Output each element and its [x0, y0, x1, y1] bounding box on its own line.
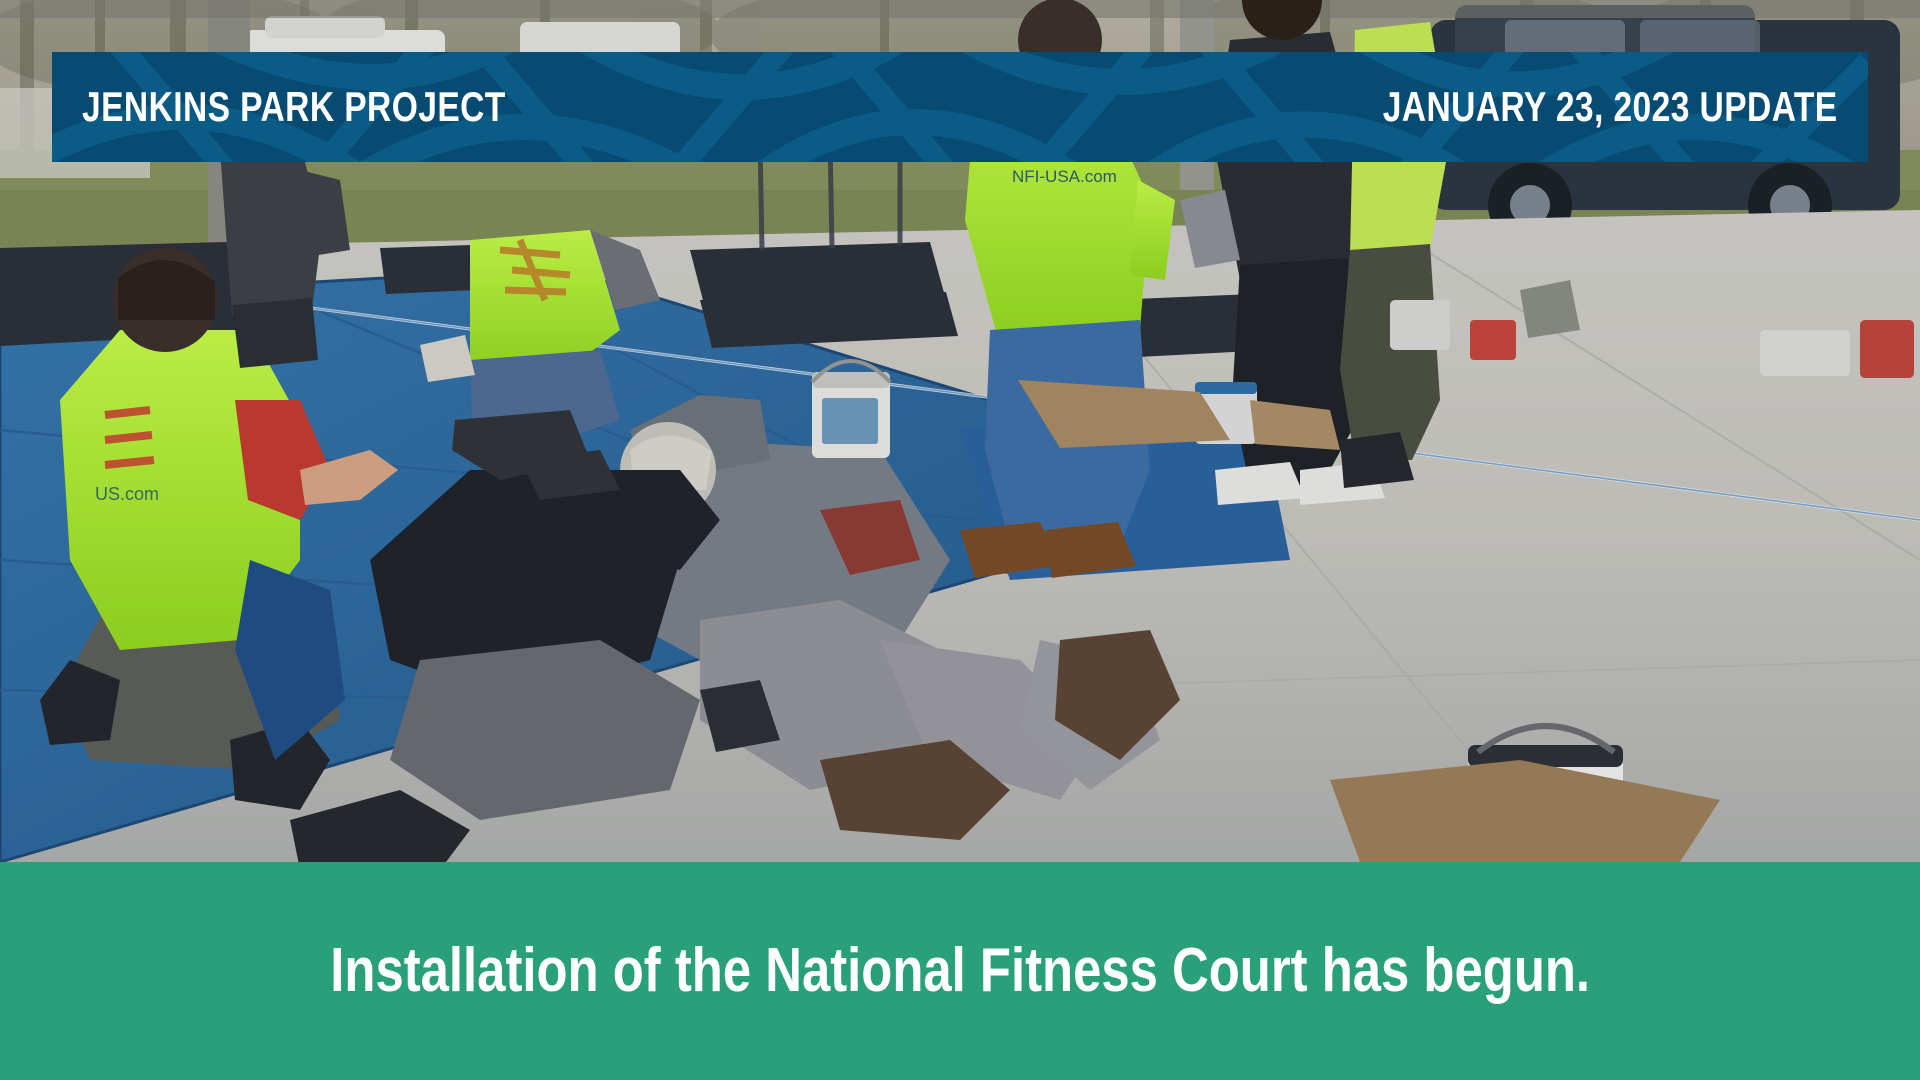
banner-date-wrap: JANUARY 23, 2023 UPDATE [612, 86, 1838, 128]
update-date: JANUARY 23, 2023 UPDATE [1383, 86, 1838, 128]
banner-content: JENKINS PARK PROJECT JANUARY 23, 2023 UP… [52, 52, 1868, 162]
caption-text: Installation of the National Fitness Cou… [330, 940, 1590, 1002]
page-root: US.com [0, 0, 1920, 1080]
header-banner: JENKINS PARK PROJECT JANUARY 23, 2023 UP… [52, 52, 1868, 162]
caption-bar: Installation of the National Fitness Cou… [0, 862, 1920, 1080]
project-title: JENKINS PARK PROJECT [82, 86, 506, 128]
